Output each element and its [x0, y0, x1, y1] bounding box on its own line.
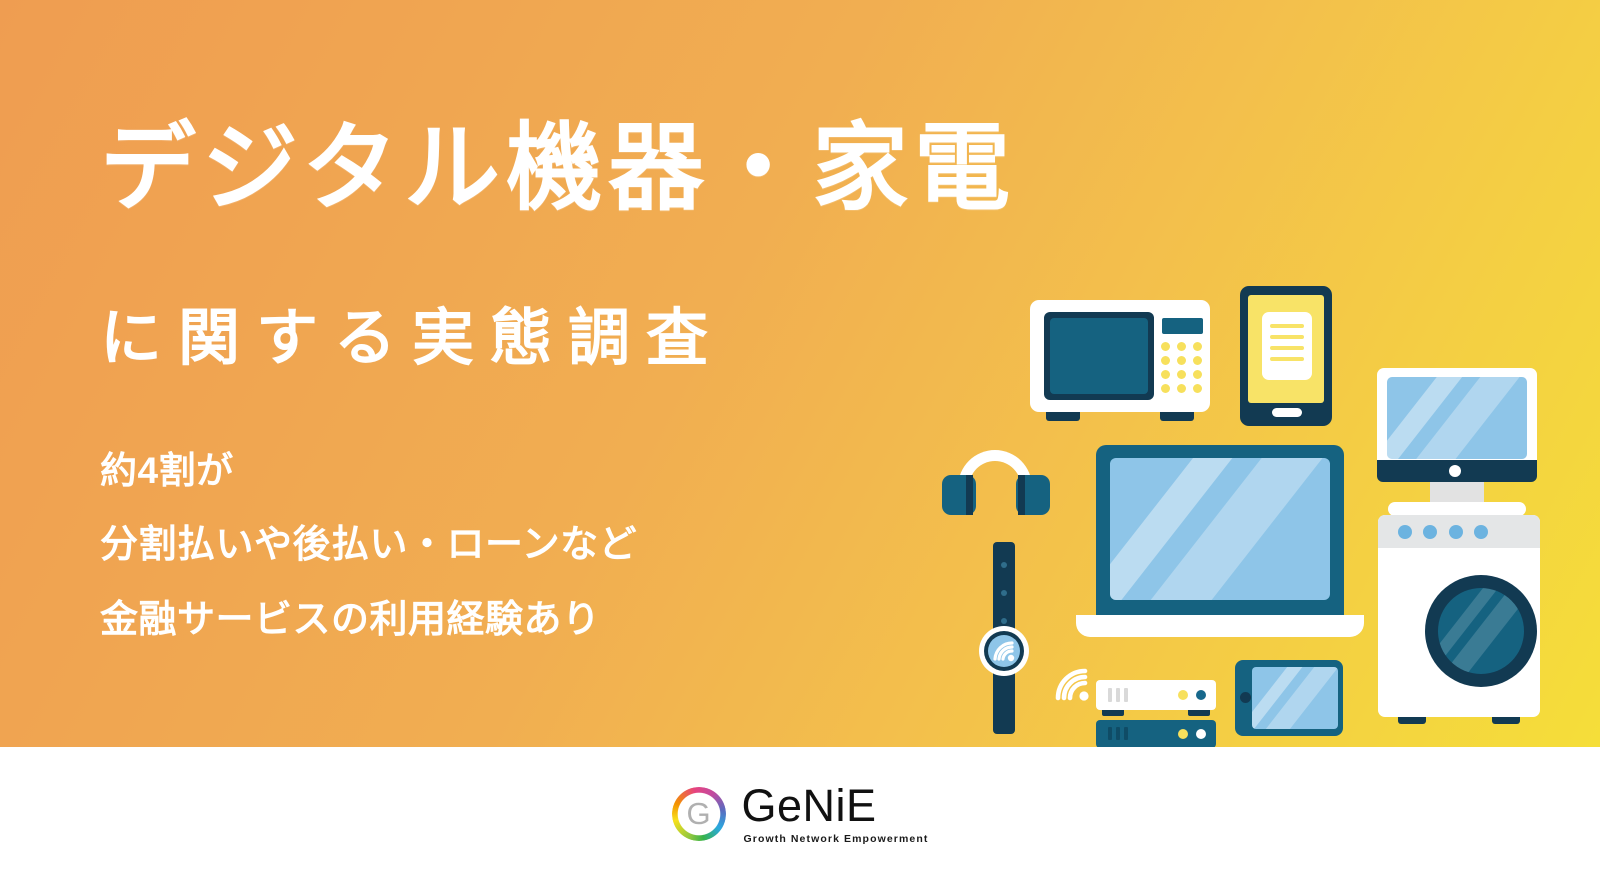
laptop-base [1076, 615, 1364, 637]
washing-machine-door-glass [1438, 588, 1524, 674]
ereader-home-button [1272, 408, 1302, 417]
ereader-text-lines [1270, 324, 1304, 368]
router-white-led-yellow [1178, 690, 1188, 700]
monitor-stand-neck [1430, 482, 1484, 504]
logo-tagline: Growth Network Empowerment [744, 833, 929, 845]
laptop-screen [1110, 458, 1330, 600]
tablet-screen [1252, 667, 1338, 729]
router-white-led-navy [1196, 690, 1206, 700]
router-teal-led-yellow [1178, 729, 1188, 739]
monitor-screen [1387, 377, 1527, 459]
poster-root: デジタル機器・家電 に関する実態調査 約4割が 分割払いや後払い・ローンなど 金… [0, 0, 1600, 880]
monitor-stand-base [1388, 502, 1526, 516]
tablet-home-button [1240, 692, 1251, 703]
microwave-foot-right [1160, 412, 1194, 421]
wifi-signal-icon [1054, 668, 1092, 702]
brand-logo: G GeNiE Growth Network Empowerment [672, 783, 929, 845]
page-title-line1: デジタル機器・家電 [100, 112, 1016, 225]
router-white-foot-right [1188, 710, 1210, 716]
device-illustration [930, 270, 1570, 740]
router-white-foot-left [1102, 710, 1124, 716]
logo-ring-icon: G [672, 787, 726, 841]
router-teal-led-white [1196, 729, 1206, 739]
subcopy-line-3: 金融サービスの利用経験あり [100, 601, 637, 639]
microwave-display [1162, 318, 1203, 334]
washing-machine-foot-right [1492, 717, 1520, 724]
headphones-earcup-left-stripe [966, 475, 973, 515]
footer-bar: G GeNiE Growth Network Empowerment [0, 747, 1600, 880]
smartwatch-strap-holes [1001, 562, 1007, 624]
microwave-foot-left [1046, 412, 1080, 421]
subcopy-block: 約4割が 分割払いや後払い・ローンなど 金融サービスの利用経験あり [100, 452, 637, 639]
logo-letter: G [672, 787, 726, 841]
subcopy-line-2: 分割払いや後払い・ローンなど [100, 526, 637, 564]
router-teal-vents [1108, 727, 1134, 740]
headphones-earcup-right-stripe [1018, 475, 1025, 515]
smartwatch-signal-icon [992, 640, 1016, 662]
washing-machine-buttons [1398, 525, 1488, 539]
monitor-power-dot [1449, 465, 1461, 477]
subcopy-line-1: 約4割が [100, 452, 637, 489]
logo-text-block: GeNiE Growth Network Empowerment [742, 783, 929, 845]
microwave-keypad [1161, 342, 1205, 394]
router-white-vents [1108, 688, 1134, 702]
washing-machine-foot-left [1398, 717, 1426, 724]
microwave-window [1050, 318, 1148, 394]
logo-wordmark: GeNiE [742, 783, 877, 828]
page-title-line2: に関する実態調査 [100, 300, 724, 378]
hero-banner: デジタル機器・家電 に関する実態調査 約4割が 分割払いや後払い・ローンなど 金… [0, 0, 1600, 747]
